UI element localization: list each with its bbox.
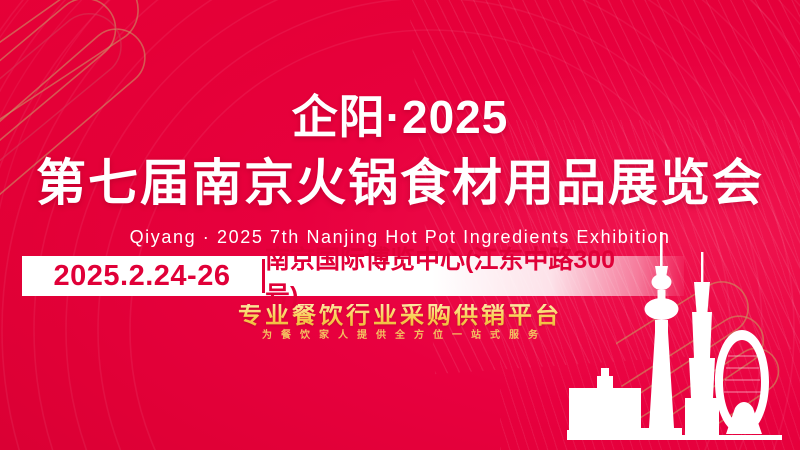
exhibition-poster: 企阳·2025 第七届南京火锅食材用品展览会 Qiyang · 2025 7th… [0, 0, 800, 450]
slogan-secondary: 为餐饮家人提供全方位一站式服务 [0, 331, 800, 341]
event-info-bar: 2025.2.24-26 南京国际博览中心(江东中路300号) [22, 256, 684, 296]
event-date: 2025.2.24-26 [22, 256, 262, 296]
slogan-primary: 专业餐饮行业采购供销平台 [0, 304, 800, 328]
event-venue: 南京国际博览中心(江东中路300号) [265, 256, 684, 296]
page-title-brand: 企阳·2025 [0, 94, 800, 140]
poster-content: 企阳·2025 第七届南京火锅食材用品展览会 Qiyang · 2025 7th… [0, 0, 800, 450]
page-title-main: 第七届南京火锅食材用品展览会 [0, 158, 800, 208]
